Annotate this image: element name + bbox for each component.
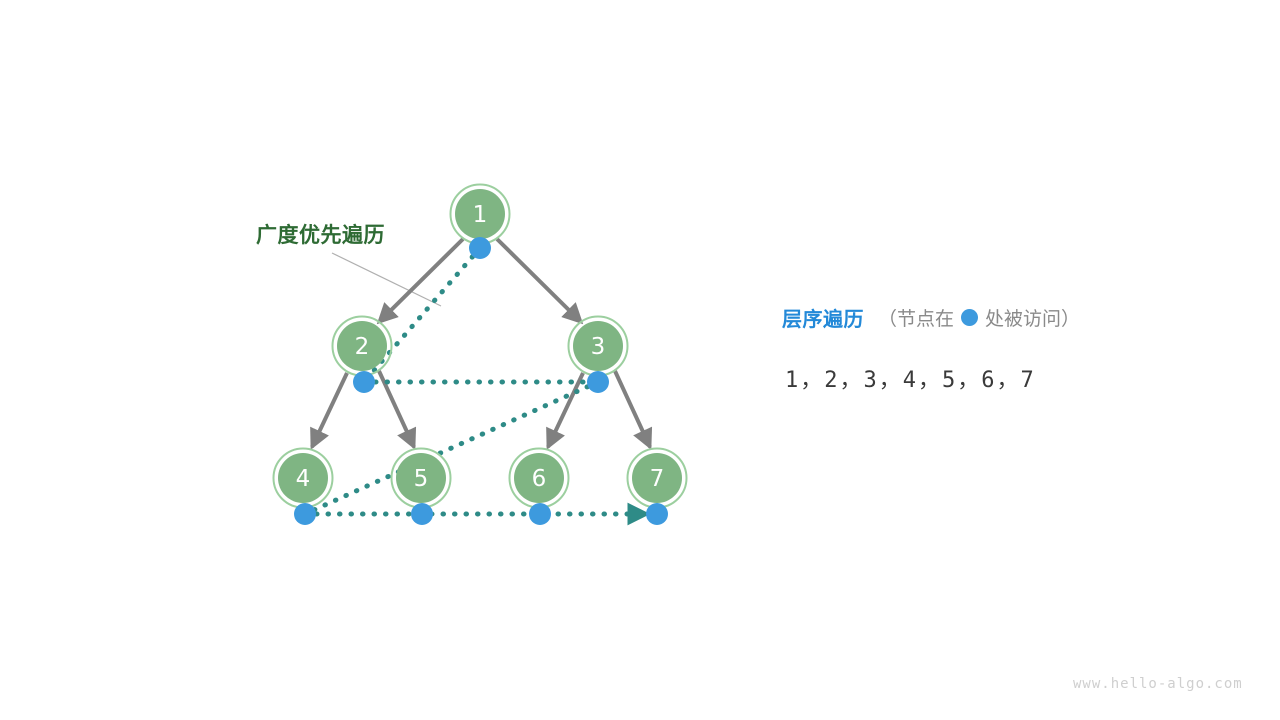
- visit-dot-node-4[interactable]: [294, 503, 316, 525]
- bfs-annotation-label: 广度优先遍历: [256, 219, 385, 249]
- diagram-canvas: 1 2 3 4 5: [0, 0, 1280, 720]
- binary-tree-bfs-diagram: 1 2 3 4 5: [0, 0, 1280, 720]
- edge-n3-n7: [615, 371, 650, 447]
- edge-n2-n4: [312, 373, 347, 447]
- traversal-sequence: 1，2，3，4，5，6，7: [785, 362, 1036, 394]
- watermark-text: www.hello-algo.com: [1073, 676, 1243, 692]
- edge-n1-n3: [497, 239, 581, 322]
- edge-n3-n6: [548, 373, 583, 447]
- tree-node-2[interactable]: 2: [333, 317, 392, 376]
- legend-note-after: 处被访问）: [985, 304, 1080, 331]
- tree-node-3[interactable]: 3: [569, 317, 628, 376]
- tree-node-5[interactable]: 5: [392, 449, 451, 508]
- legend-row: 层序遍历 （节点在 处被访问）: [782, 300, 1080, 334]
- tree-node-7[interactable]: 7: [628, 449, 687, 508]
- visit-dot-node-5[interactable]: [411, 503, 433, 525]
- node-value-label: 4: [296, 466, 311, 492]
- blue-visit-dot-icon: [961, 309, 978, 326]
- node-value-label: 1: [473, 202, 488, 228]
- node-value-label: 7: [650, 466, 665, 492]
- node-value-label: 5: [414, 466, 429, 492]
- legend-note: （节点在 处被访问）: [878, 304, 1080, 331]
- visit-dot-node-3[interactable]: [587, 371, 609, 393]
- visit-dot-node-1[interactable]: [469, 237, 491, 259]
- visit-dot-node-2[interactable]: [353, 371, 375, 393]
- legend-title: 层序遍历: [782, 303, 864, 332]
- tree-node-1[interactable]: 1: [451, 185, 510, 244]
- node-value-label: 2: [355, 334, 370, 360]
- legend-note-before: （节点在: [878, 304, 954, 331]
- node-value-label: 6: [532, 466, 547, 492]
- node-value-label: 3: [591, 334, 606, 360]
- bfs-path-segment-1-2: [364, 248, 480, 382]
- visit-dot-node-6[interactable]: [529, 503, 551, 525]
- tree-node-4[interactable]: 4: [274, 449, 333, 508]
- tree-node-6[interactable]: 6: [510, 449, 569, 508]
- visit-dot-node-7[interactable]: [646, 503, 668, 525]
- legend-block: 层序遍历 （节点在 处被访问）: [782, 300, 1080, 334]
